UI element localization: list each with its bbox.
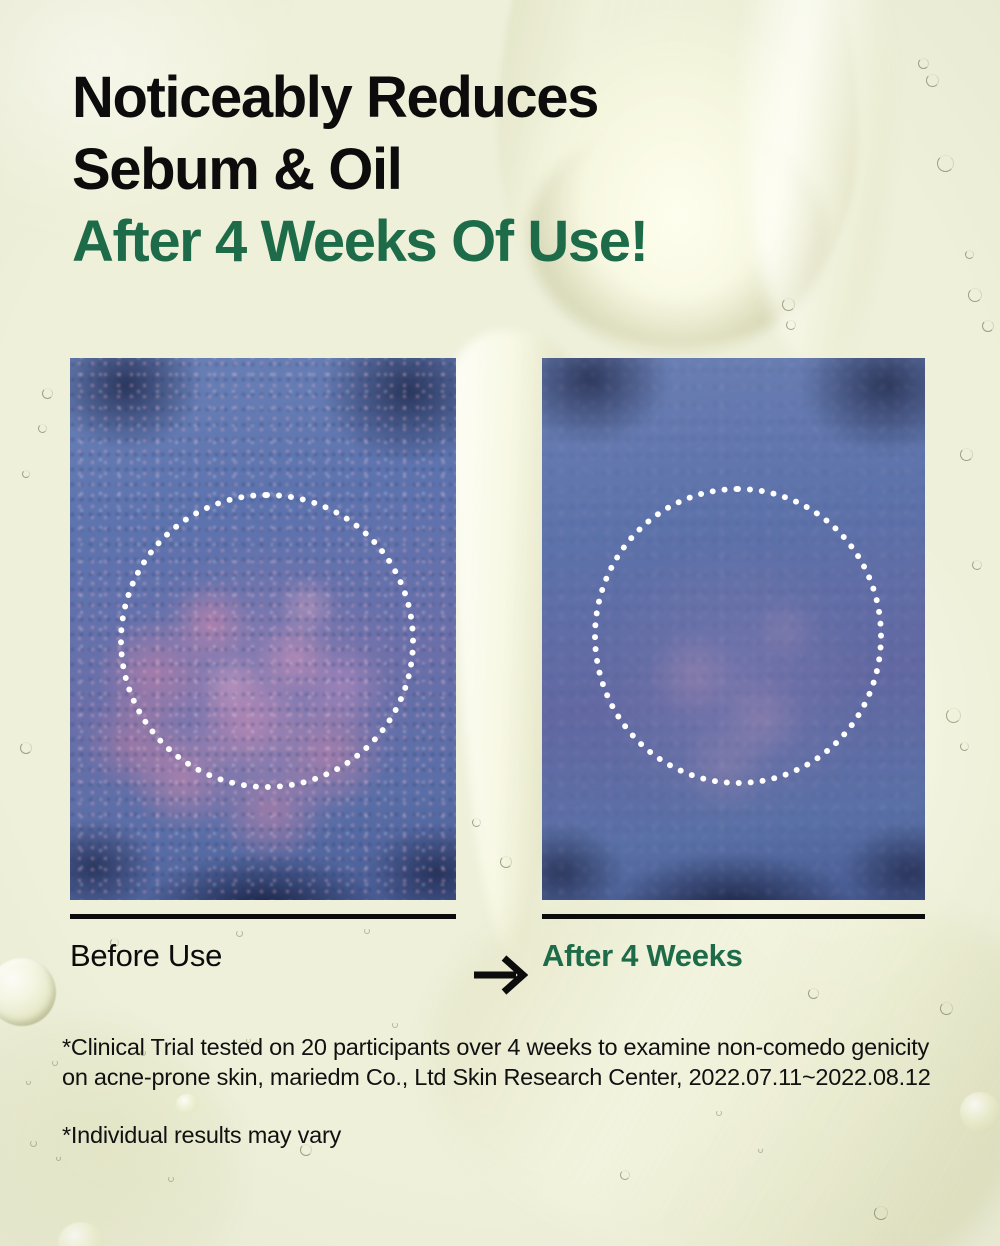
bubble-micro-6 <box>30 1140 37 1147</box>
headline-line-2: Sebum & Oil <box>72 134 902 206</box>
bubble-tiny-16 <box>20 742 32 754</box>
before-caption-rule <box>70 914 456 919</box>
bubble-medium-bottom <box>58 1222 104 1246</box>
bubble-tiny-2 <box>926 74 939 87</box>
bubble-micro-12 <box>392 1022 398 1028</box>
after-panel-wrapper <box>542 358 925 900</box>
bubble-tiny-20 <box>940 1002 953 1015</box>
disclaimer-footnote: *Individual results may vary <box>62 1120 952 1150</box>
after-caption-block: After 4 Weeks <box>542 914 925 975</box>
bubble-tiny-6 <box>782 298 795 311</box>
after-caption-rule <box>542 914 925 919</box>
headline-line-3: After 4 Weeks Of Use! <box>72 206 902 278</box>
bubble-micro-3 <box>52 1060 58 1066</box>
bubble-tiny-13 <box>972 560 982 570</box>
bubble-tiny-14 <box>946 708 961 723</box>
bubble-tiny-23 <box>874 1206 888 1220</box>
bubble-tiny-17 <box>500 856 512 868</box>
bubble-tiny-5 <box>968 288 982 302</box>
bubble-tiny-8 <box>982 320 994 332</box>
bubble-tiny-15 <box>960 742 969 751</box>
bubble-tiny-4 <box>965 250 974 259</box>
bubble-tiny-12 <box>960 448 973 461</box>
before-skin-photo <box>70 358 456 900</box>
after-caption-label: After 4 Weeks <box>542 937 925 975</box>
bubble-tiny-9 <box>42 388 53 399</box>
bubble-tiny-11 <box>22 470 30 478</box>
headline-line-1: Noticeably Reduces <box>72 62 902 134</box>
headline-block: Noticeably Reduces Sebum & Oil After 4 W… <box>72 62 902 278</box>
bubble-tiny-7 <box>786 320 796 330</box>
before-caption-label: Before Use <box>70 937 456 975</box>
bubble-micro-4 <box>26 1080 31 1085</box>
arrow-right-icon <box>472 952 528 998</box>
after-skin-texture <box>542 358 925 900</box>
bubble-micro-7 <box>56 1156 61 1161</box>
clinical-trial-footnote: *Clinical Trial tested on 20 participant… <box>62 1032 952 1092</box>
before-skin-texture <box>70 358 456 900</box>
footnotes-block: *Clinical Trial tested on 20 participant… <box>62 1032 952 1150</box>
bubble-tiny-1 <box>918 58 929 69</box>
after-skin-photo <box>542 358 925 900</box>
bubble-micro-8 <box>168 1176 174 1182</box>
bubble-medium-right <box>960 1092 1000 1132</box>
before-panel-wrapper <box>70 358 456 900</box>
bubble-tiny-3 <box>937 155 954 172</box>
bubble-tiny-22 <box>620 1170 630 1180</box>
before-caption-block: Before Use <box>70 914 456 975</box>
bubble-tiny-19 <box>808 988 819 999</box>
bubble-large-left <box>0 958 56 1026</box>
bubble-tiny-10 <box>38 424 47 433</box>
bubble-tiny-18 <box>472 818 481 827</box>
